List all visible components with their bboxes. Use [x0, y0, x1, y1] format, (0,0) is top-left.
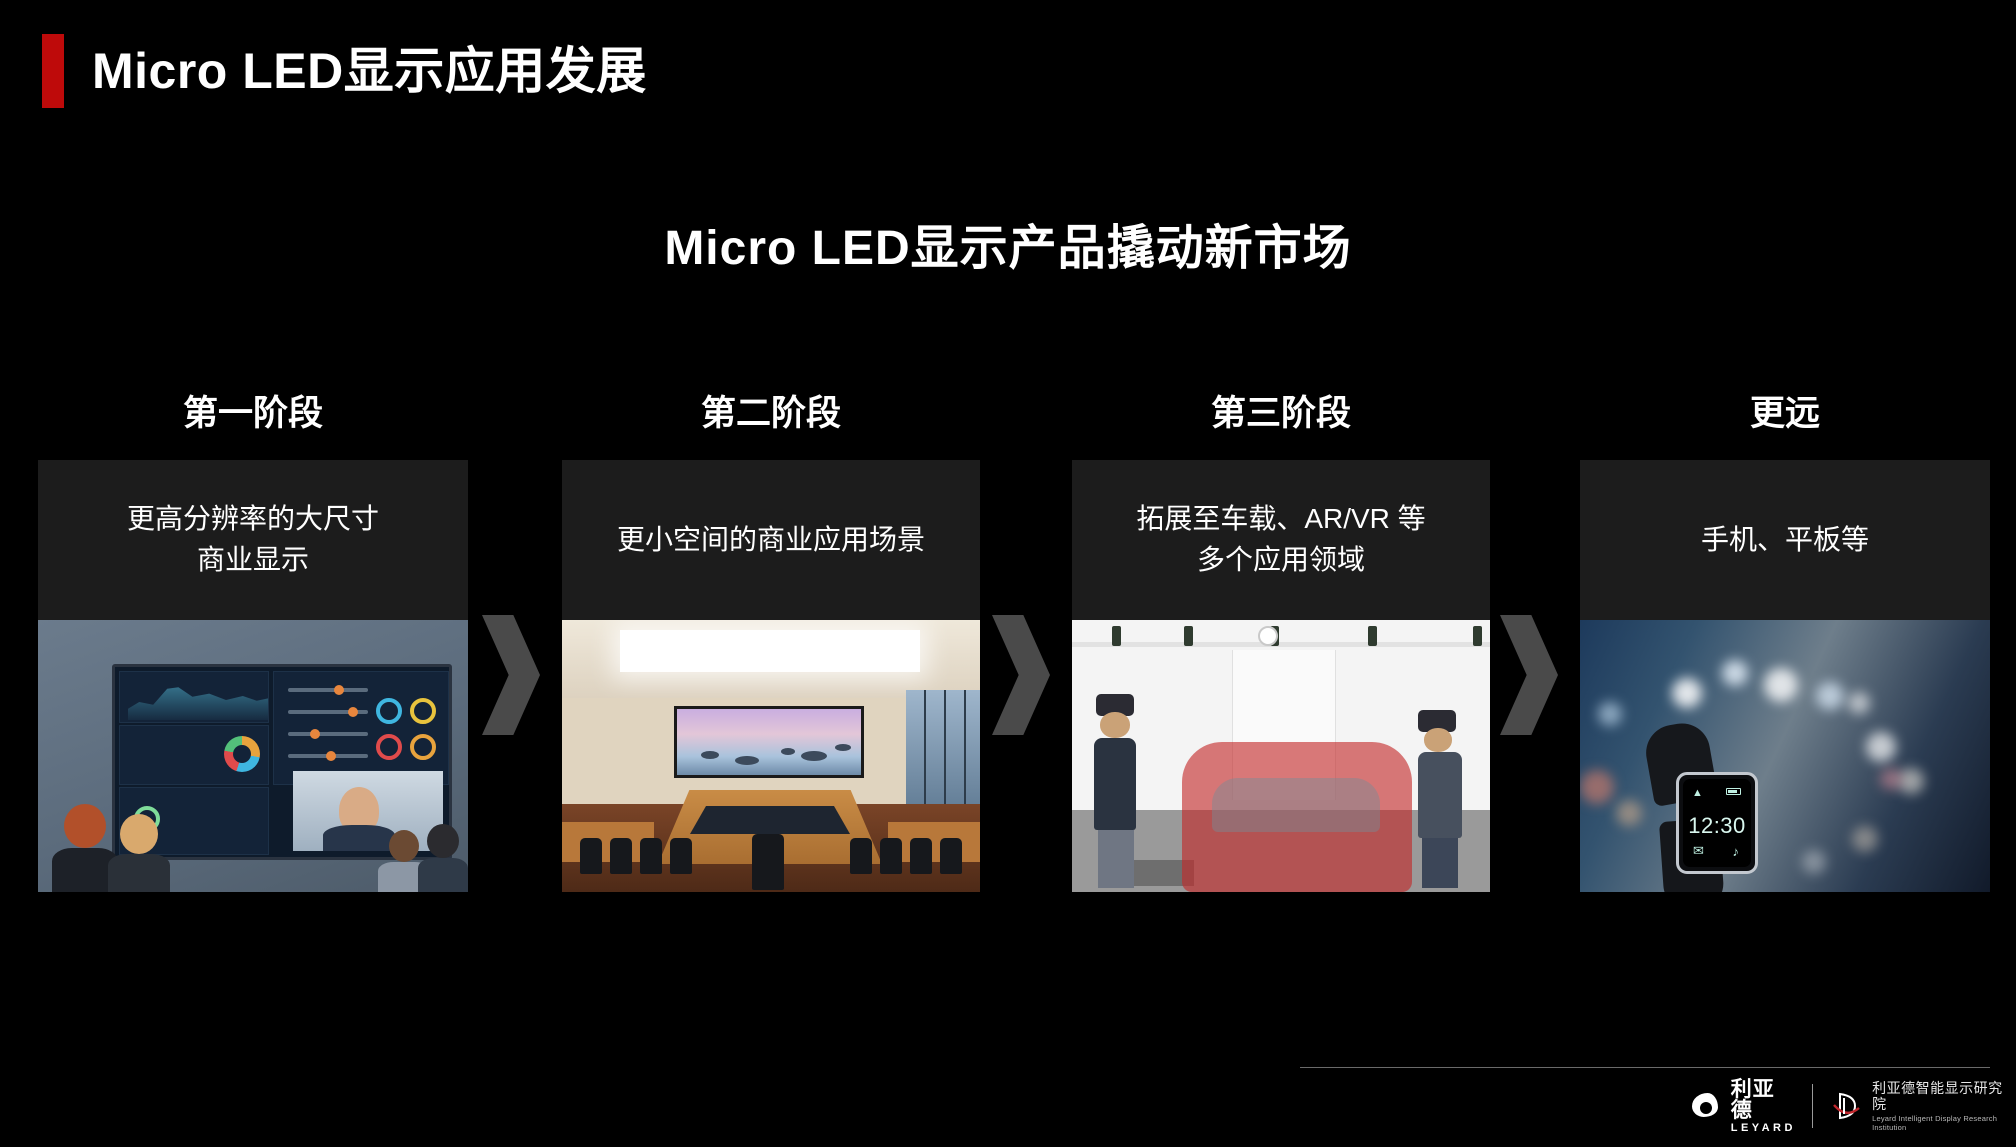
leyard-logo: 利亚德 LEYARD — [1690, 1079, 1796, 1134]
main-heading: Micro LED显示产品撬动新市场 — [0, 208, 2016, 278]
watch-time: 12:30 — [1683, 813, 1751, 839]
footer-logos: 利亚德 LEYARD 利亚德智能显示研究院 Leyard Intelligent… — [1690, 1078, 2010, 1134]
led-video-wall — [674, 706, 864, 778]
institute-name-en: Leyard Intelligent Display Research Inst… — [1872, 1115, 2010, 1132]
music-icon: ♪ — [1733, 844, 1740, 859]
stage-label-row: 第一阶段 第二阶段 第三阶段 更远 — [0, 385, 2016, 437]
stage-label-2: 第二阶段 — [562, 385, 980, 436]
stage-media-3 — [1072, 620, 1490, 892]
stage-card-2: 更小空间的商业应用场景 — [562, 460, 980, 892]
chevron-right-icon — [482, 615, 540, 735]
stage-caption-1: 更高分辨率的大尺寸 商业显示 — [38, 460, 468, 620]
institute-name-cn: 利亚德智能显示研究院 — [1872, 1080, 2010, 1112]
stage-media-1 — [38, 620, 468, 892]
vr-user-right — [1418, 710, 1462, 888]
stage-label-4: 更远 — [1580, 385, 1990, 436]
watch-screen: ▲ 12:30 ✉ ♪ — [1683, 779, 1751, 867]
slide-header: Micro LED显示应用发展 — [0, 34, 647, 108]
stage-media-2 — [562, 620, 980, 892]
page-title: Micro LED显示应用发展 — [92, 46, 647, 96]
leyard-mark-icon — [1690, 1090, 1724, 1122]
chevron-right-icon — [1500, 615, 1558, 735]
footer-divider — [1300, 1067, 1990, 1068]
slide-root: Micro LED显示应用发展 Micro LED显示产品撬动新市场 第一阶段 … — [0, 0, 2016, 1147]
wall-clock-icon — [1258, 626, 1278, 646]
leyard-brand-en: LEYARD — [1731, 1123, 1796, 1134]
battery-icon — [1726, 788, 1741, 795]
vr-headset-car-simulation-photo — [1072, 620, 1490, 892]
mail-icon: ✉ — [1693, 843, 1704, 859]
institute-mark-icon — [1829, 1089, 1863, 1123]
institute-logo: 利亚德智能显示研究院 Leyard Intelligent Display Re… — [1829, 1080, 2010, 1132]
accent-bar — [42, 34, 64, 108]
person-silhouette — [418, 824, 468, 892]
stage-caption-3: 拓展至车载、AR/VR 等 多个应用领域 — [1072, 460, 1490, 620]
vr-user-left — [1094, 694, 1136, 888]
stage-caption-4: 手机、平板等 — [1580, 460, 1990, 620]
stage-card-1: 更高分辨率的大尺寸 商业显示 — [38, 460, 468, 892]
meeting-room-dashboard-display-photo — [38, 620, 468, 892]
smartwatch-bokeh-night-photo: ▲ 12:30 ✉ ♪ — [1580, 620, 1990, 892]
conference-room-led-video-wall-photo — [562, 620, 980, 892]
wifi-icon: ▲ — [1692, 787, 1703, 799]
stage-caption-2: 更小空间的商业应用场景 — [562, 460, 980, 620]
stage-label-3: 第三阶段 — [1072, 385, 1490, 436]
stage-label-1: 第一阶段 — [38, 385, 468, 436]
stage-card-3: 拓展至车载、AR/VR 等 多个应用领域 — [1072, 460, 1490, 892]
footer-separator — [1812, 1084, 1813, 1128]
smartwatch: ▲ 12:30 ✉ ♪ — [1676, 772, 1758, 874]
stage-media-4: ▲ 12:30 ✉ ♪ — [1580, 620, 1990, 892]
leyard-brand-cn: 利亚德 — [1731, 1079, 1796, 1121]
stage-card-4: 手机、平板等 ▲ — [1580, 460, 1990, 892]
chevron-right-icon — [992, 615, 1050, 735]
person-silhouette — [108, 814, 170, 892]
